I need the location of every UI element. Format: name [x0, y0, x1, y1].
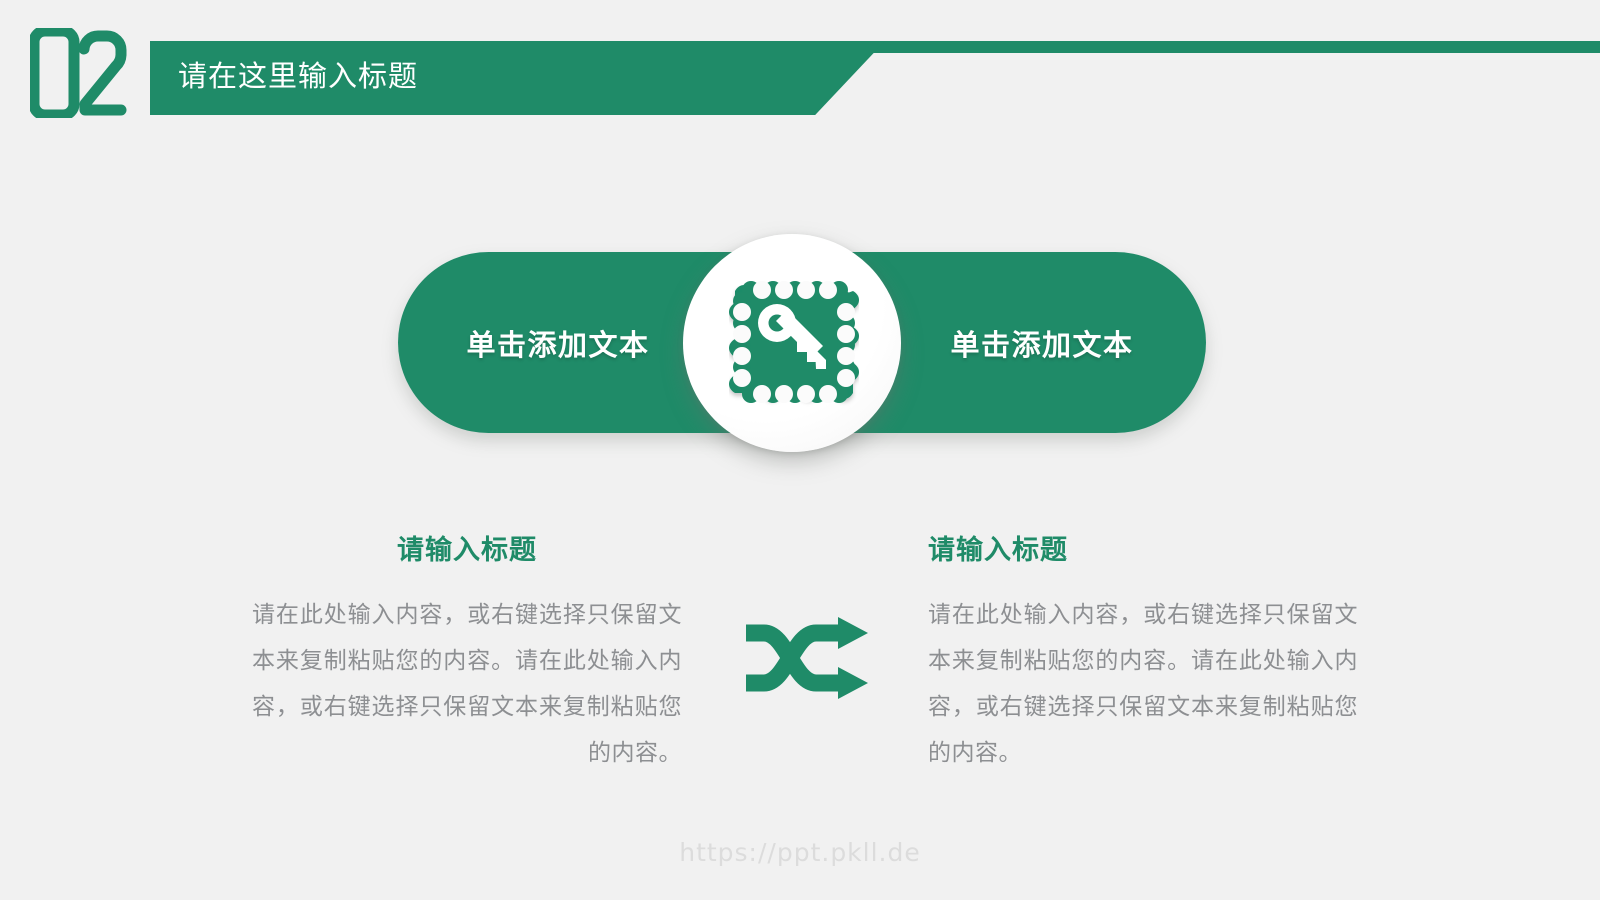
content-column-left: 请输入标题 请在此处输入内容，或右键选择只保留文本来复制粘贴您的内容。请在此处输…	[252, 533, 682, 775]
column-left-heading: 请输入标题	[252, 533, 682, 567]
stamp-key-icon	[729, 277, 859, 407]
center-icon-circle	[683, 234, 901, 452]
column-right-body: 请在此处输入内容，或右键选择只保留文本来复制粘贴您的内容。请在此处输入内容，或右…	[928, 591, 1358, 775]
watermark-url: https://ppt.pkll.de	[0, 838, 1600, 867]
page-title: 请在这里输入标题	[178, 54, 418, 100]
column-left-body: 请在此处输入内容，或右键选择只保留文本来复制粘贴您的内容。请在此处输入内容，或右…	[252, 591, 682, 775]
content-column-right: 请输入标题 请在此处输入内容，或右键选择只保留文本来复制粘贴您的内容。请在此处输…	[928, 533, 1358, 775]
column-right-heading: 请输入标题	[928, 533, 1358, 567]
section-number-02-icon	[30, 28, 130, 118]
page-header: 请在这里输入标题	[0, 0, 1600, 130]
pill-label-left[interactable]: 单击添加文本	[428, 252, 688, 433]
pill-label-right[interactable]: 单击添加文本	[908, 252, 1176, 433]
shuffle-arrows-icon	[742, 617, 868, 699]
